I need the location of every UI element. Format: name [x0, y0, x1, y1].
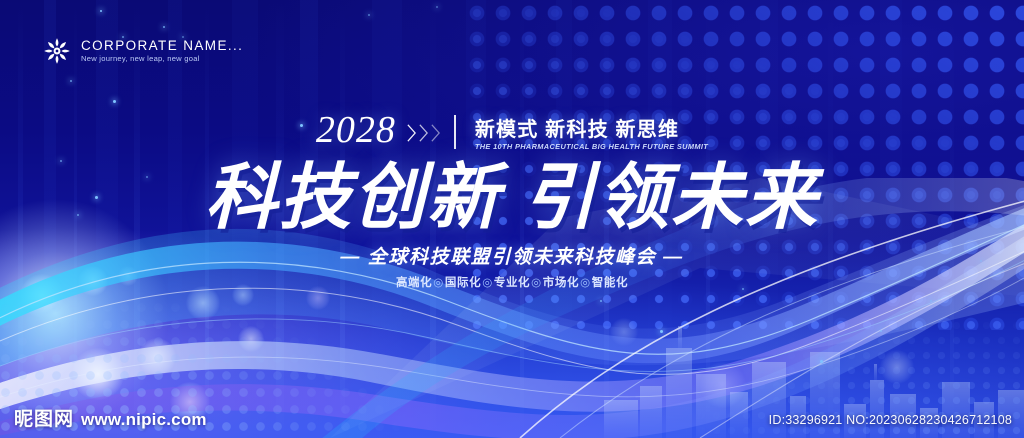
- main-title: 科技创新 引领未来: [0, 162, 1024, 234]
- particle-dot: [820, 360, 823, 363]
- slogan-cn: 新模式 新科技 新思维: [475, 120, 708, 140]
- particle-dot: [660, 330, 663, 333]
- watermark-url: www.nipic.com: [81, 411, 207, 428]
- keyword-item: 专业化: [494, 277, 530, 289]
- vertical-divider: [454, 115, 456, 149]
- flower-emblem-icon: [42, 36, 72, 66]
- site-watermark[interactable]: 昵图网 www.nipic.com: [14, 410, 207, 429]
- keyword-separator-icon: ◎: [432, 277, 445, 289]
- particle-dot: [880, 330, 882, 332]
- keyword-item: 市场化: [543, 277, 579, 289]
- particle-dot: [368, 14, 370, 16]
- keyword-separator-icon: ◎: [530, 277, 543, 289]
- poster-canvas: CORPORATE NAME... New journey, new leap,…: [0, 0, 1024, 438]
- corporate-logo[interactable]: CORPORATE NAME... New journey, new leap,…: [42, 36, 243, 66]
- particle-dot: [100, 10, 102, 12]
- particle-dot: [70, 80, 72, 82]
- watermark-cn: 昵图网: [14, 410, 74, 429]
- year-slogan-row: 2028 新模式 新科技 新思维 THE 10TH PHARMACEUTICAL…: [0, 112, 1024, 150]
- asset-id-label: ID:33296921 NO:20230628230426712108: [769, 414, 1012, 427]
- particle-dot: [600, 300, 602, 302]
- particle-dot: [436, 6, 438, 8]
- keyword-list: 高端化◎国际化◎专业化◎市场化◎智能化: [0, 278, 1024, 290]
- keyword-separator-icon: ◎: [579, 277, 592, 289]
- corporate-name-text: CORPORATE NAME: [81, 38, 228, 53]
- event-subtitle: — 全球科技联盟引领未来科技峰会 —: [0, 248, 1024, 267]
- keyword-item: 高端化: [396, 277, 432, 289]
- keyword-separator-icon: ◎: [481, 277, 494, 289]
- year-label: 2028: [316, 111, 396, 149]
- corporate-tagline: New journey, new leap, new goal: [81, 55, 243, 63]
- particle-dot: [163, 26, 165, 28]
- particle-dot: [930, 300, 932, 302]
- corporate-name-suffix: ...: [228, 38, 243, 53]
- slogan-en: THE 10TH PHARMACEUTICAL BIG HEALTH FUTUR…: [475, 143, 708, 150]
- keyword-item: 智能化: [592, 277, 628, 289]
- triple-chevron-right-icon: [406, 123, 441, 143]
- corporate-name: CORPORATE NAME...: [81, 39, 243, 53]
- keyword-item: 国际化: [445, 277, 481, 289]
- particle-dot: [113, 100, 116, 103]
